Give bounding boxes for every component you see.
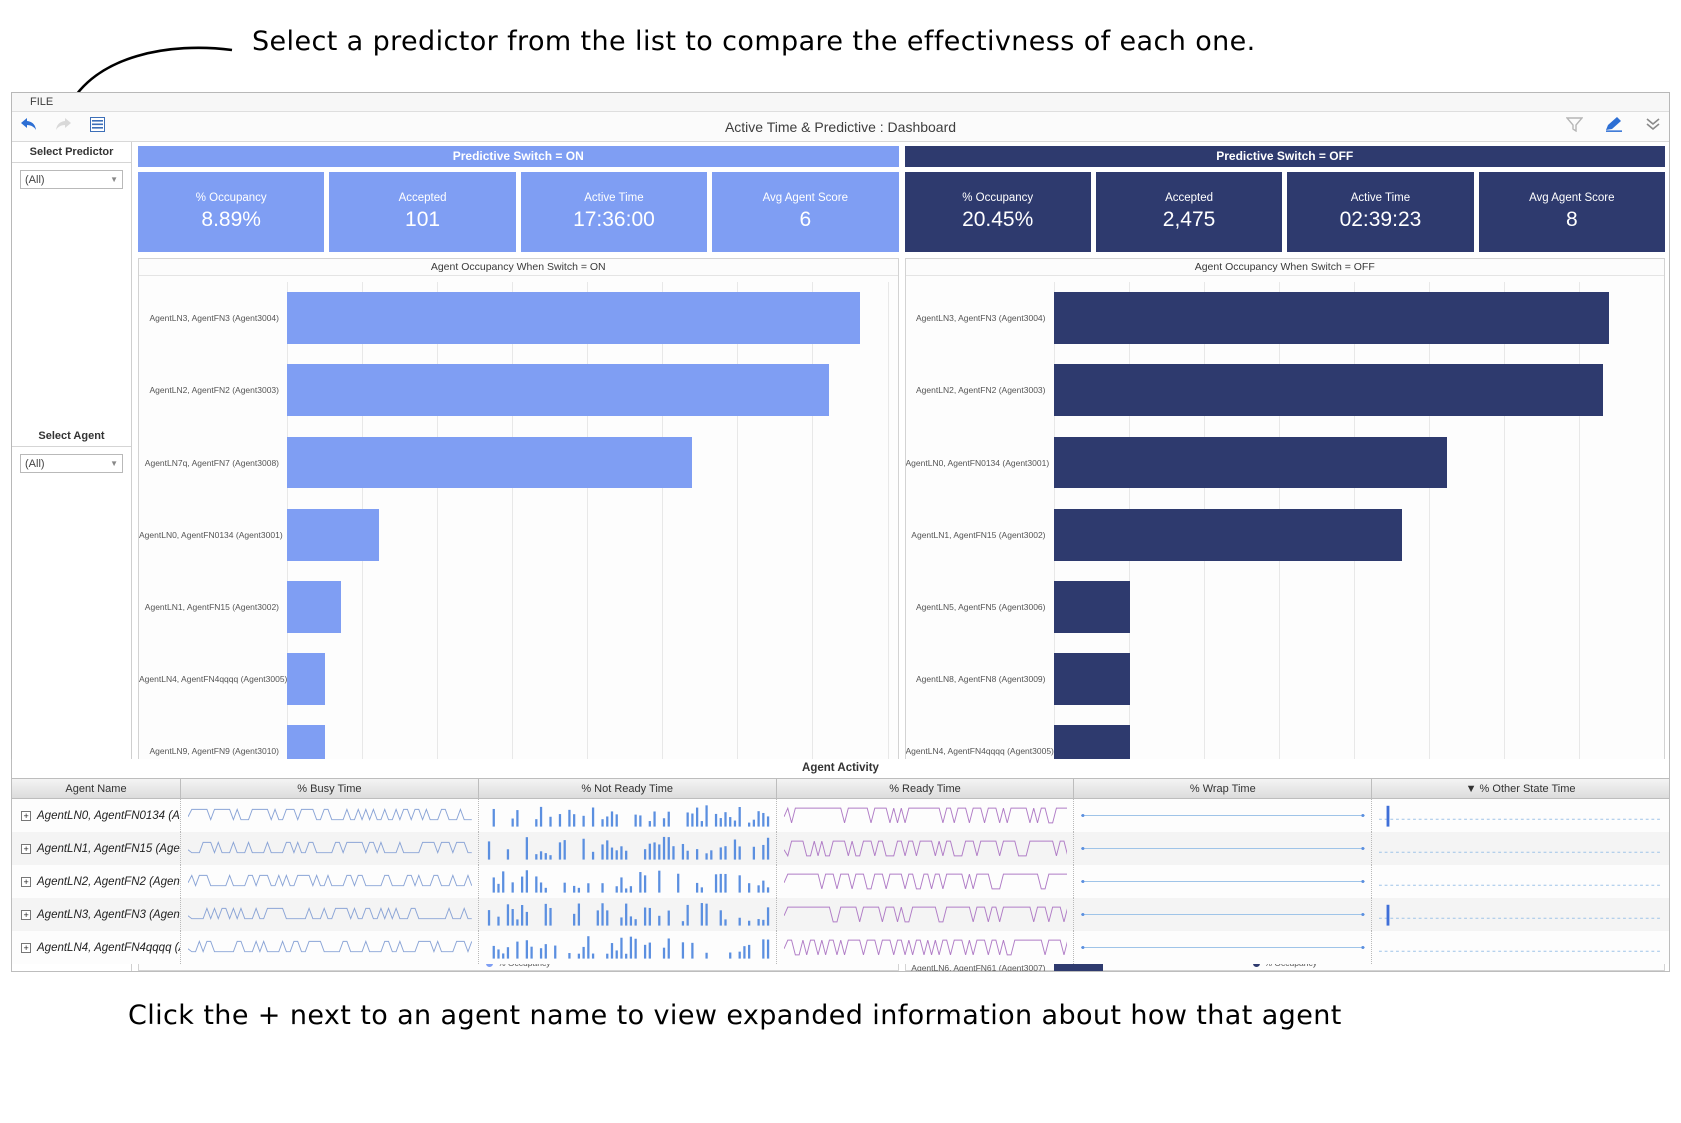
activity-column-header[interactable]: Agent Name — [11, 778, 181, 799]
chart-bar[interactable] — [287, 509, 379, 561]
bottom-fade-mask — [0, 1043, 1681, 1123]
activity-sparkline-cell[interactable] — [777, 898, 1075, 931]
pane-on-title: Predictive Switch = ON — [138, 146, 899, 167]
chart-bar-track — [287, 571, 888, 643]
chart-bar-track — [1054, 426, 1655, 498]
activity-sparkline-cell[interactable] — [777, 865, 1075, 898]
select-predictor-box: (All) ▼ — [12, 163, 131, 189]
chart-bar[interactable] — [1054, 364, 1603, 416]
chart-bar-label: AgentLN3, AgentFN3 (Agent3004) — [906, 313, 1054, 323]
chart-bar-label: AgentLN7q, AgentFN7 (Agent3008) — [139, 458, 287, 468]
kpi-label: % Occupancy — [196, 192, 267, 204]
kpi-value: 02:39:23 — [1340, 208, 1422, 232]
kpi-value: 8.89% — [201, 208, 261, 232]
kpi-avg-agent-score-on[interactable]: Avg Agent Score 6 — [712, 172, 898, 252]
table-row[interactable]: +AgentLN2, AgentFN2 (Agent3003 — [11, 865, 1670, 898]
chart-bar-track — [1054, 354, 1655, 426]
chart-bar-label: AgentLN4, AgentFN4qqqq (Agent3005) — [906, 746, 1054, 756]
kpi-label: % Occupancy — [962, 192, 1033, 204]
agent-name-label: AgentLN4, AgentFN4qqqq (Agen — [37, 942, 181, 954]
sparkline — [784, 802, 1068, 827]
kpi-row-on: % Occupancy 8.89% Accepted 101 Active Ti… — [138, 172, 899, 252]
sparkline — [188, 835, 472, 860]
sparkline — [486, 868, 770, 893]
pencil-icon[interactable] — [1605, 116, 1623, 137]
sparkline — [486, 802, 770, 827]
activity-sparkline-cell[interactable] — [777, 799, 1075, 832]
activity-sparkline-cell[interactable] — [777, 832, 1075, 865]
agent-name-label: AgentLN3, AgentFN3 (Agent3004 — [37, 909, 181, 921]
activity-column-header[interactable]: % Wrap Time — [1074, 778, 1372, 799]
kpi-label: Active Time — [1351, 192, 1410, 204]
chart-bar-label: AgentLN0, AgentFN0134 (Agent3001) — [139, 530, 287, 540]
kpi-avg-agent-score-off[interactable]: Avg Agent Score 8 — [1479, 172, 1665, 252]
sparkline — [188, 901, 472, 926]
chart-bar-row[interactable]: AgentLN5, AgentFN5 (Agent3006) — [906, 571, 1655, 643]
agent-name-label: AgentLN0, AgentFN0134 (Agent3 — [37, 810, 181, 822]
kpi-occupancy-off[interactable]: % Occupancy 20.45% — [905, 172, 1091, 252]
chart-bar-row[interactable]: AgentLN2, AgentFN2 (Agent3003) — [139, 354, 888, 426]
agent-name-label: AgentLN1, AgentFN15 (Agent300 — [37, 843, 181, 855]
select-agent-header: Select Agent — [12, 426, 131, 447]
chart-bar-row[interactable]: AgentLN1, AgentFN15 (Agent3002) — [906, 499, 1655, 571]
sparkline — [1081, 835, 1365, 860]
select-predictor-header: Select Predictor — [12, 142, 131, 163]
kpi-active-time-on[interactable]: Active Time 17:36:00 — [521, 172, 707, 252]
kpi-label: Accepted — [399, 192, 447, 204]
sparkline — [1081, 802, 1365, 827]
activity-column-header[interactable]: ▼ % Other State Time — [1372, 778, 1670, 799]
agent-name-label: AgentLN2, AgentFN2 (Agent3003 — [37, 876, 181, 888]
agent-name-cell[interactable]: +AgentLN2, AgentFN2 (Agent3003 — [11, 865, 181, 898]
activity-sparkline-cell[interactable] — [1372, 898, 1670, 931]
chart-bar-track — [287, 282, 888, 354]
chart-bar-row[interactable]: AgentLN3, AgentFN3 (Agent3004) — [139, 282, 888, 354]
chart-bar-track — [287, 426, 888, 498]
chart-bar-row[interactable]: AgentLN1, AgentFN15 (Agent3002) — [139, 571, 888, 643]
chart-bar-label: AgentLN1, AgentFN15 (Agent3002) — [906, 530, 1054, 540]
expand-plus-icon[interactable]: + — [21, 910, 31, 920]
funnel-icon[interactable] — [1566, 117, 1583, 137]
chart-bar-row[interactable]: AgentLN0, AgentFN0134 (Agent3001) — [906, 426, 1655, 498]
chart-bar-track — [1054, 643, 1655, 715]
chart-bar-track — [287, 643, 888, 715]
table-row[interactable]: +AgentLN4, AgentFN4qqqq (Agen — [11, 931, 1670, 964]
activity-column-header[interactable]: % Ready Time — [777, 778, 1075, 799]
kpi-label: Avg Agent Score — [763, 192, 848, 204]
chart-bar-label: AgentLN4, AgentFN4qqqq (Agent3005) — [139, 674, 287, 684]
chart-bar[interactable] — [1054, 292, 1609, 344]
activity-sparkline-cell[interactable] — [479, 931, 777, 964]
activity-sparkline-cell[interactable] — [1372, 865, 1670, 898]
chevron-double-down-icon[interactable] — [1645, 117, 1661, 136]
chart-bar[interactable] — [287, 581, 341, 633]
activity-sparkline-cell[interactable] — [181, 898, 479, 931]
sparkline — [486, 901, 770, 926]
chart-bar[interactable] — [287, 437, 692, 489]
table-row[interactable]: +AgentLN0, AgentFN0134 (Agent3 — [11, 799, 1670, 832]
kpi-label: Accepted — [1165, 192, 1213, 204]
agent-activity-header-row: Agent Name% Busy Time% Not Ready Time% R… — [11, 778, 1670, 799]
sparkline — [784, 934, 1068, 959]
activity-sparkline-cell[interactable] — [777, 931, 1075, 964]
sparkline — [1379, 835, 1663, 860]
activity-column-header[interactable]: % Not Ready Time — [479, 778, 777, 799]
kpi-value: 17:36:00 — [573, 208, 655, 232]
sparkline — [188, 934, 472, 959]
agent-activity-panel: Agent Activity Agent Name% Busy Time% No… — [11, 759, 1670, 972]
activity-sparkline-cell[interactable] — [1372, 931, 1670, 964]
chart-bar-label: AgentLN8, AgentFN8 (Agent3009) — [906, 674, 1054, 684]
predictor-dropdown-value: (All) — [25, 174, 45, 186]
annotation-top-text: Select a predictor from the list to comp… — [252, 26, 1256, 57]
chart-bar-track — [1054, 499, 1655, 571]
chart-bar-track — [1054, 571, 1655, 643]
activity-sparkline-cell[interactable] — [1074, 865, 1372, 898]
chart-bar[interactable] — [287, 364, 829, 416]
chart-bar-label: AgentLN2, AgentFN2 (Agent3003) — [139, 385, 287, 395]
agent-activity-title: Agent Activity — [11, 759, 1670, 778]
sparkline — [784, 901, 1068, 926]
activity-sparkline-cell[interactable] — [479, 799, 777, 832]
activity-sparkline-cell[interactable] — [479, 898, 777, 931]
activity-sparkline-cell[interactable] — [1074, 898, 1372, 931]
chart-bar-label: AgentLN1, AgentFN15 (Agent3002) — [139, 602, 287, 612]
kpi-value: 2,475 — [1163, 208, 1216, 232]
sparkline — [188, 868, 472, 893]
expand-plus-icon[interactable]: + — [21, 877, 31, 887]
chart-bar[interactable] — [1054, 581, 1131, 633]
pane-off-title: Predictive Switch = OFF — [905, 146, 1666, 167]
sparkline — [784, 868, 1068, 893]
chart-bar-label: AgentLN5, AgentFN5 (Agent3006) — [906, 602, 1054, 612]
expand-plus-icon[interactable]: + — [21, 811, 31, 821]
sparkline — [486, 835, 770, 860]
rail-spacer — [12, 189, 131, 426]
activity-sparkline-cell[interactable] — [1074, 832, 1372, 865]
chart-bar[interactable] — [1054, 437, 1447, 489]
kpi-value: 20.45% — [962, 208, 1033, 232]
table-row[interactable]: +AgentLN3, AgentFN3 (Agent3004 — [11, 898, 1670, 931]
toolbar: Active Time & Predictive : Dashboard — [12, 112, 1669, 142]
chart-bar-track — [287, 499, 888, 571]
kpi-accepted-on[interactable]: Accepted 101 — [329, 172, 515, 252]
kpi-label: Active Time — [584, 192, 643, 204]
chart-bar-row[interactable]: AgentLN8, AgentFN8 (Agent3009) — [906, 643, 1655, 715]
chart-bar[interactable] — [287, 292, 860, 344]
sparkline — [1379, 802, 1663, 827]
chart-bar-row[interactable]: AgentLN7q, AgentFN7 (Agent3008) — [139, 426, 888, 498]
agent-dropdown-value: (All) — [25, 458, 45, 470]
activity-sparkline-cell[interactable] — [1074, 799, 1372, 832]
agent-name-cell[interactable]: +AgentLN3, AgentFN3 (Agent3004 — [11, 898, 181, 931]
chart-bar-row[interactable]: AgentLN2, AgentFN2 (Agent3003) — [906, 354, 1655, 426]
chart-bar-label: AgentLN9, AgentFN9 (Agent3010) — [139, 746, 287, 756]
chart-bar-row[interactable]: AgentLN0, AgentFN0134 (Agent3001) — [139, 499, 888, 571]
expand-plus-icon[interactable]: + — [21, 943, 31, 953]
agent-name-cell[interactable]: +AgentLN1, AgentFN15 (Agent300 — [11, 832, 181, 865]
sparkline — [1081, 901, 1365, 926]
sparkline — [784, 835, 1068, 860]
select-agent-box: (All) ▼ — [12, 447, 131, 473]
activity-sparkline-cell[interactable] — [1074, 931, 1372, 964]
sparkline — [486, 934, 770, 959]
sparkline — [1379, 901, 1663, 926]
page-title: Active Time & Predictive : Dashboard — [12, 119, 1669, 135]
chart-off-title: Agent Occupancy When Switch = OFF — [906, 259, 1665, 276]
menu-bar: FILE — [12, 93, 1669, 112]
activity-sparkline-cell[interactable] — [181, 865, 479, 898]
kpi-accepted-off[interactable]: Accepted 2,475 — [1096, 172, 1282, 252]
kpi-value: 101 — [405, 208, 440, 232]
chart-bar[interactable] — [287, 653, 325, 705]
activity-column-header[interactable]: % Busy Time — [181, 778, 479, 799]
activity-sparkline-cell[interactable] — [181, 799, 479, 832]
chart-bar-label: AgentLN0, AgentFN0134 (Agent3001) — [906, 458, 1054, 468]
activity-sparkline-cell[interactable] — [1372, 832, 1670, 865]
agent-name-cell[interactable]: +AgentLN0, AgentFN0134 (Agent3 — [11, 799, 181, 832]
menu-item-file[interactable]: FILE — [30, 96, 53, 108]
chevron-down-icon: ▼ — [110, 175, 118, 184]
activity-sparkline-cell[interactable] — [479, 832, 777, 865]
chart-bar-track — [287, 354, 888, 426]
chart-on-title: Agent Occupancy When Switch = ON — [139, 259, 898, 276]
chart-bar[interactable] — [1054, 653, 1131, 705]
activity-sparkline-cell[interactable] — [479, 865, 777, 898]
expand-plus-icon[interactable]: + — [21, 844, 31, 854]
chart-bar[interactable] — [1054, 509, 1402, 561]
kpi-occupancy-on[interactable]: % Occupancy 8.89% — [138, 172, 324, 252]
annotation-bottom-line1: Click the + next to an agent name to vie… — [128, 1000, 1342, 1031]
chart-bar-row[interactable]: AgentLN4, AgentFN4qqqq (Agent3005) — [139, 643, 888, 715]
kpi-label: Avg Agent Score — [1529, 192, 1614, 204]
chart-bar-track — [1054, 282, 1655, 354]
activity-sparkline-cell[interactable] — [181, 931, 479, 964]
sparkline — [1379, 934, 1663, 959]
agent-activity-rows: +AgentLN0, AgentFN0134 (Agent3+AgentLN1,… — [11, 799, 1670, 964]
kpi-value: 8 — [1566, 208, 1578, 232]
chevron-down-icon: ▼ — [110, 459, 118, 468]
kpi-active-time-off[interactable]: Active Time 02:39:23 — [1287, 172, 1473, 252]
chart-bar-row[interactable]: AgentLN3, AgentFN3 (Agent3004) — [906, 282, 1655, 354]
predictor-dropdown[interactable]: (All) ▼ — [20, 170, 123, 189]
agent-dropdown[interactable]: (All) ▼ — [20, 454, 123, 473]
agent-name-cell[interactable]: +AgentLN4, AgentFN4qqqq (Agen — [11, 931, 181, 964]
table-row[interactable]: +AgentLN1, AgentFN15 (Agent300 — [11, 832, 1670, 865]
sparkline — [1081, 868, 1365, 893]
kpi-row-off: % Occupancy 20.45% Accepted 2,475 Active… — [905, 172, 1666, 252]
activity-sparkline-cell[interactable] — [1372, 799, 1670, 832]
toolbar-right-group — [1566, 116, 1661, 137]
activity-sparkline-cell[interactable] — [181, 832, 479, 865]
sparkline — [1081, 934, 1365, 959]
chart-bar-label: AgentLN2, AgentFN2 (Agent3003) — [906, 385, 1054, 395]
kpi-value: 6 — [799, 208, 811, 232]
sparkline — [1379, 868, 1663, 893]
chart-bar-label: AgentLN3, AgentFN3 (Agent3004) — [139, 313, 287, 323]
sparkline — [188, 802, 472, 827]
